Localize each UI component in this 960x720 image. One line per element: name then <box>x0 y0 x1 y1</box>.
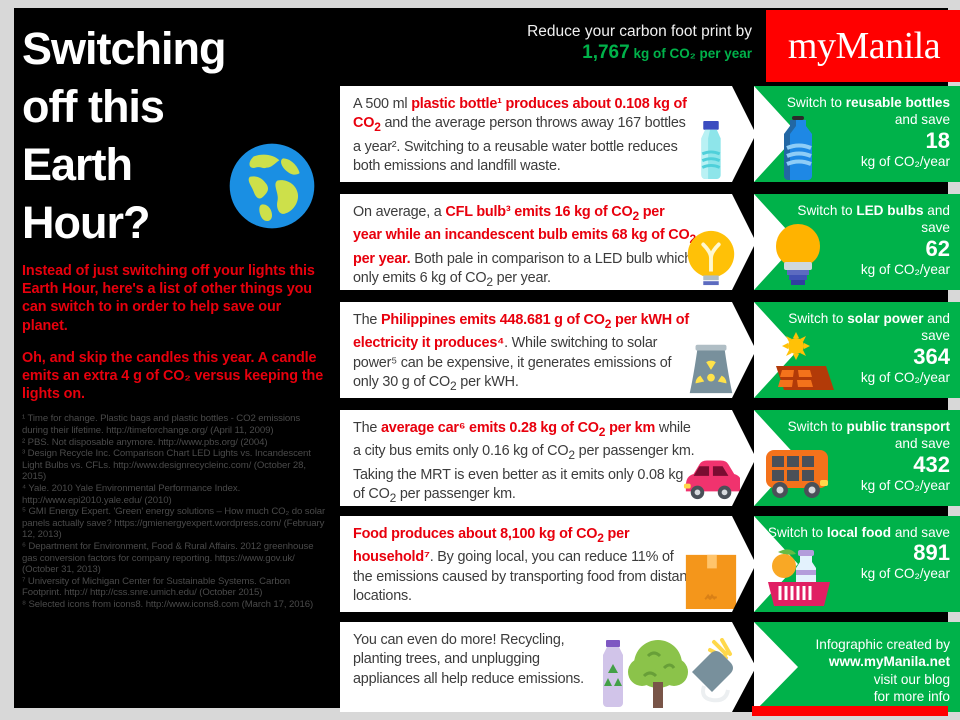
reduce-total: 1,767 kg of CO₂ per year <box>344 42 752 65</box>
row-footer: You can even do more! Recycling, plantin… <box>340 622 960 712</box>
references-list: ¹ Time for change. Plastic bags and plas… <box>22 413 328 610</box>
cta-card[interactable]: Switch to reusable bottles and save 18 k… <box>754 86 960 182</box>
car-icon <box>682 443 740 505</box>
fact-text: Food produces about 8,100 kg of CO2 per … <box>353 525 696 607</box>
page-title: Switching off this Earth Hour? <box>22 20 328 252</box>
credit-site-link[interactable]: www.myManila.net <box>766 653 950 670</box>
reference-item: ⁸ Selected icons from icons8. http://www… <box>22 599 328 611</box>
title-line-3: Earth <box>22 136 328 194</box>
cta-unit: kg of CO₂/year <box>766 565 950 582</box>
credit-line-4: for more info <box>766 688 950 705</box>
cta-card[interactable]: Switch to solar power and save 364 kg of… <box>754 302 960 398</box>
reference-item: ³ Design Recycle Inc. Comparison Chart L… <box>22 448 328 483</box>
cta-card[interactable]: Switch to local food and save 891 kg of … <box>754 516 960 612</box>
cta-label: Switch to local food and save <box>768 525 950 540</box>
reduce-label: Reduce your carbon foot print by <box>344 22 752 42</box>
credit-line-3: visit our blog <box>766 671 950 688</box>
reference-item: ⁴ Yale. 2010 Yale Environmental Performa… <box>22 483 328 506</box>
cta-label: Switch to LED bulbs and save <box>797 203 950 235</box>
reference-item: ⁷ University of Michigan Center for Sust… <box>22 576 328 599</box>
fact-card: Food produces about 8,100 kg of CO2 per … <box>340 516 756 612</box>
left-column: Switching off this Earth Hour? Instead o… <box>14 8 336 708</box>
cta-value: 364 <box>766 345 950 369</box>
cfl-light-bulb-icon <box>682 227 740 289</box>
poster-board: Switching off this Earth Hour? Instead o… <box>14 8 948 708</box>
cta-unit: kg of CO₂/year <box>766 153 950 170</box>
cta-unit: kg of CO₂/year <box>766 369 950 386</box>
title-line-4: Hour? <box>22 194 328 252</box>
cta-value: 432 <box>766 453 950 477</box>
row-local-food: Food produces about 8,100 kg of CO2 per … <box>340 516 960 612</box>
row-solar-power: The Philippines emits 448.681 g of CO2 p… <box>340 302 960 398</box>
cta-value: 62 <box>766 237 950 261</box>
cardboard-box-icon <box>682 549 740 611</box>
unplugged-plug-icon <box>692 640 733 700</box>
fact-card: The average car⁶ emits 0.28 kg of CO2 pe… <box>340 410 756 506</box>
cta-unit: kg of CO₂/year <box>766 477 950 494</box>
cta-card[interactable]: Switch to public transport and save 432 … <box>754 410 960 506</box>
cta-value: 18 <box>766 129 950 153</box>
fact-card: A 500 ml plastic bottle¹ produces about … <box>340 86 756 182</box>
fact-text: You can even do more! Recycling, plantin… <box>353 631 606 689</box>
fact-text: The average car⁶ emits 0.28 kg of CO2 pe… <box>353 419 696 506</box>
recycling-bottle-icon <box>603 640 623 707</box>
cta-label: Switch to solar power and save <box>788 311 950 343</box>
lead-paragraph-1: Instead of just switching off your light… <box>22 262 328 335</box>
reference-item: ¹ Time for change. Plastic bags and plas… <box>22 413 328 436</box>
tree-icon <box>628 640 688 708</box>
reduce-value: 1,767 <box>582 42 630 63</box>
reduce-summary: Reduce your carbon foot print by 1,767 k… <box>344 22 752 65</box>
credit-card[interactable]: Infographic created by www.myManila.net … <box>754 622 960 712</box>
fact-card: You can even do more! Recycling, plantin… <box>340 622 756 712</box>
cta-card[interactable]: Switch to LED bulbs and save 62 kg of CO… <box>754 194 960 290</box>
reduce-unit: kg of CO₂ per year <box>633 46 752 61</box>
reference-item: ⁶ Department for Environment, Food & Rur… <box>22 541 328 576</box>
cta-value: 891 <box>766 541 950 565</box>
row-led-bulbs: On average, a CFL bulb³ emits 16 kg of C… <box>340 194 960 290</box>
footer-icons-group <box>592 638 740 710</box>
lead-paragraph-2: Oh, and skip the candles this year. A ca… <box>22 349 328 404</box>
fact-card: The Philippines emits 448.681 g of CO2 p… <box>340 302 756 398</box>
reference-item: ⁵ GMI Energy Expert. 'Green' energy solu… <box>22 506 328 541</box>
cta-label: Switch to reusable bottles and save <box>787 95 950 127</box>
reference-item: ² PBS. Not disposable anymore. http://ww… <box>22 437 328 449</box>
title-line-1: Switching <box>22 20 328 78</box>
fact-card: On average, a CFL bulb³ emits 16 kg of C… <box>340 194 756 290</box>
row-reusable-bottles: A 500 ml plastic bottle¹ produces about … <box>340 86 960 182</box>
fact-text: On average, a CFL bulb³ emits 16 kg of C… <box>353 203 696 290</box>
title-line-2: off this <box>22 78 328 136</box>
row-public-transport: The average car⁶ emits 0.28 kg of CO2 pe… <box>340 410 960 506</box>
mymanila-logo[interactable]: myManila <box>766 10 960 82</box>
infographic-poster: Switching off this Earth Hour? Instead o… <box>0 0 960 720</box>
nuclear-power-plant-icon <box>682 335 740 397</box>
plastic-water-bottle-icon <box>682 119 740 181</box>
fact-text: The Philippines emits 448.681 g of CO2 p… <box>353 311 696 396</box>
credit-line-1: Infographic created by <box>766 636 950 653</box>
cta-label: Switch to public transport and save <box>788 419 950 451</box>
fact-text: A 500 ml plastic bottle¹ produces about … <box>353 95 696 177</box>
bottom-red-bar <box>752 706 948 716</box>
cta-unit: kg of CO₂/year <box>766 261 950 278</box>
